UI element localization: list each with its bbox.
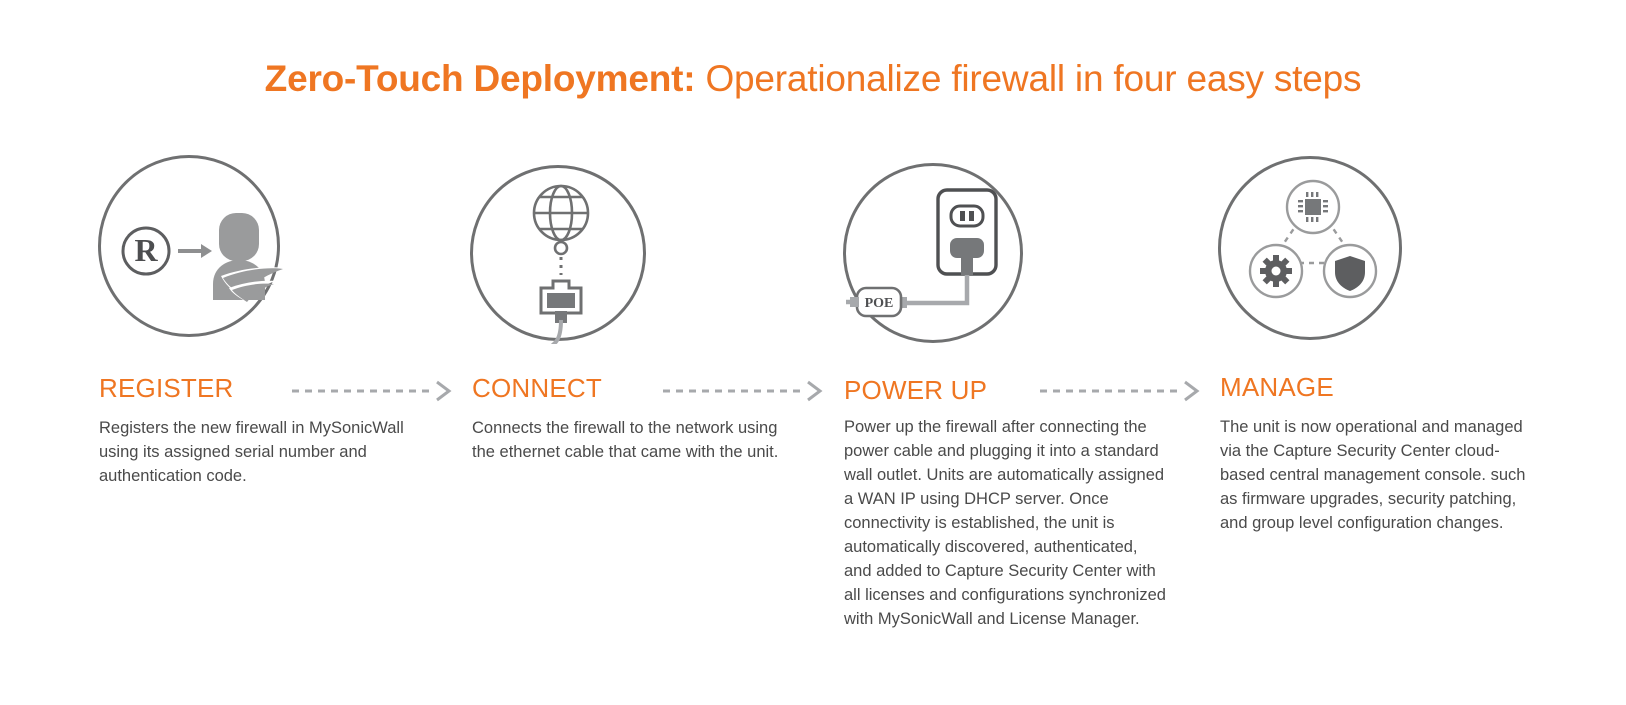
step-register-description: Registers the new firewall in MySonicWal… <box>86 403 419 488</box>
step-power-up-icon-slot: POE <box>831 140 1203 355</box>
step-power-up: POE POWER UP Power up the firewall after… <box>831 140 1203 631</box>
poe-adapter-icon: POE <box>857 288 901 316</box>
rj45-ethernet-connector-icon <box>541 281 581 323</box>
power-up-icon: POE <box>843 163 1023 343</box>
poe-label: POE <box>865 296 894 311</box>
step-manage: MANAGE The unit is now operational and m… <box>1207 140 1579 535</box>
step-manage-icon-slot <box>1207 140 1579 355</box>
power-cable-icon <box>904 275 967 303</box>
step-connect-label: CONNECT <box>459 373 831 403</box>
shield-circle-icon <box>1324 245 1376 297</box>
page-title-container: Zero-Touch Deployment: Operationalize fi… <box>0 56 1626 102</box>
user-person-icon <box>213 213 283 302</box>
steps-row: R REG <box>0 140 1626 700</box>
step-connect-description: Connects the firewall to the network usi… <box>459 403 792 464</box>
globe-node-icon <box>555 242 567 254</box>
page-title-rest: Operationalize firewall in four easy ste… <box>695 58 1361 99</box>
gear-circle-icon <box>1250 245 1302 297</box>
svg-text:R: R <box>134 232 158 268</box>
step-connect: CONNECT Connects the firewall to the net… <box>459 140 831 464</box>
step-manage-description: The unit is now operational and managed … <box>1207 402 1540 535</box>
cpu-chip-circle-icon <box>1287 181 1339 233</box>
globe-icon <box>534 186 588 240</box>
step-register-label: REGISTER <box>86 373 458 403</box>
cable-icon <box>545 320 561 344</box>
manage-icon <box>1218 156 1402 340</box>
arrow-right-icon <box>178 244 212 258</box>
register-icon: R <box>98 155 280 337</box>
step-register: R REG <box>86 140 458 488</box>
step-connect-icon-slot <box>459 140 831 355</box>
step-register-icon-slot: R <box>86 140 458 355</box>
page-title-bold: Zero-Touch Deployment: <box>265 58 696 99</box>
step-manage-label: MANAGE <box>1207 372 1579 402</box>
power-plug-icon <box>950 238 984 275</box>
step-power-up-description: Power up the firewall after connecting t… <box>831 405 1169 631</box>
connect-icon <box>470 165 646 341</box>
page-title: Zero-Touch Deployment: Operationalize fi… <box>0 56 1626 102</box>
step-power-up-label: POWER UP <box>831 375 1203 405</box>
